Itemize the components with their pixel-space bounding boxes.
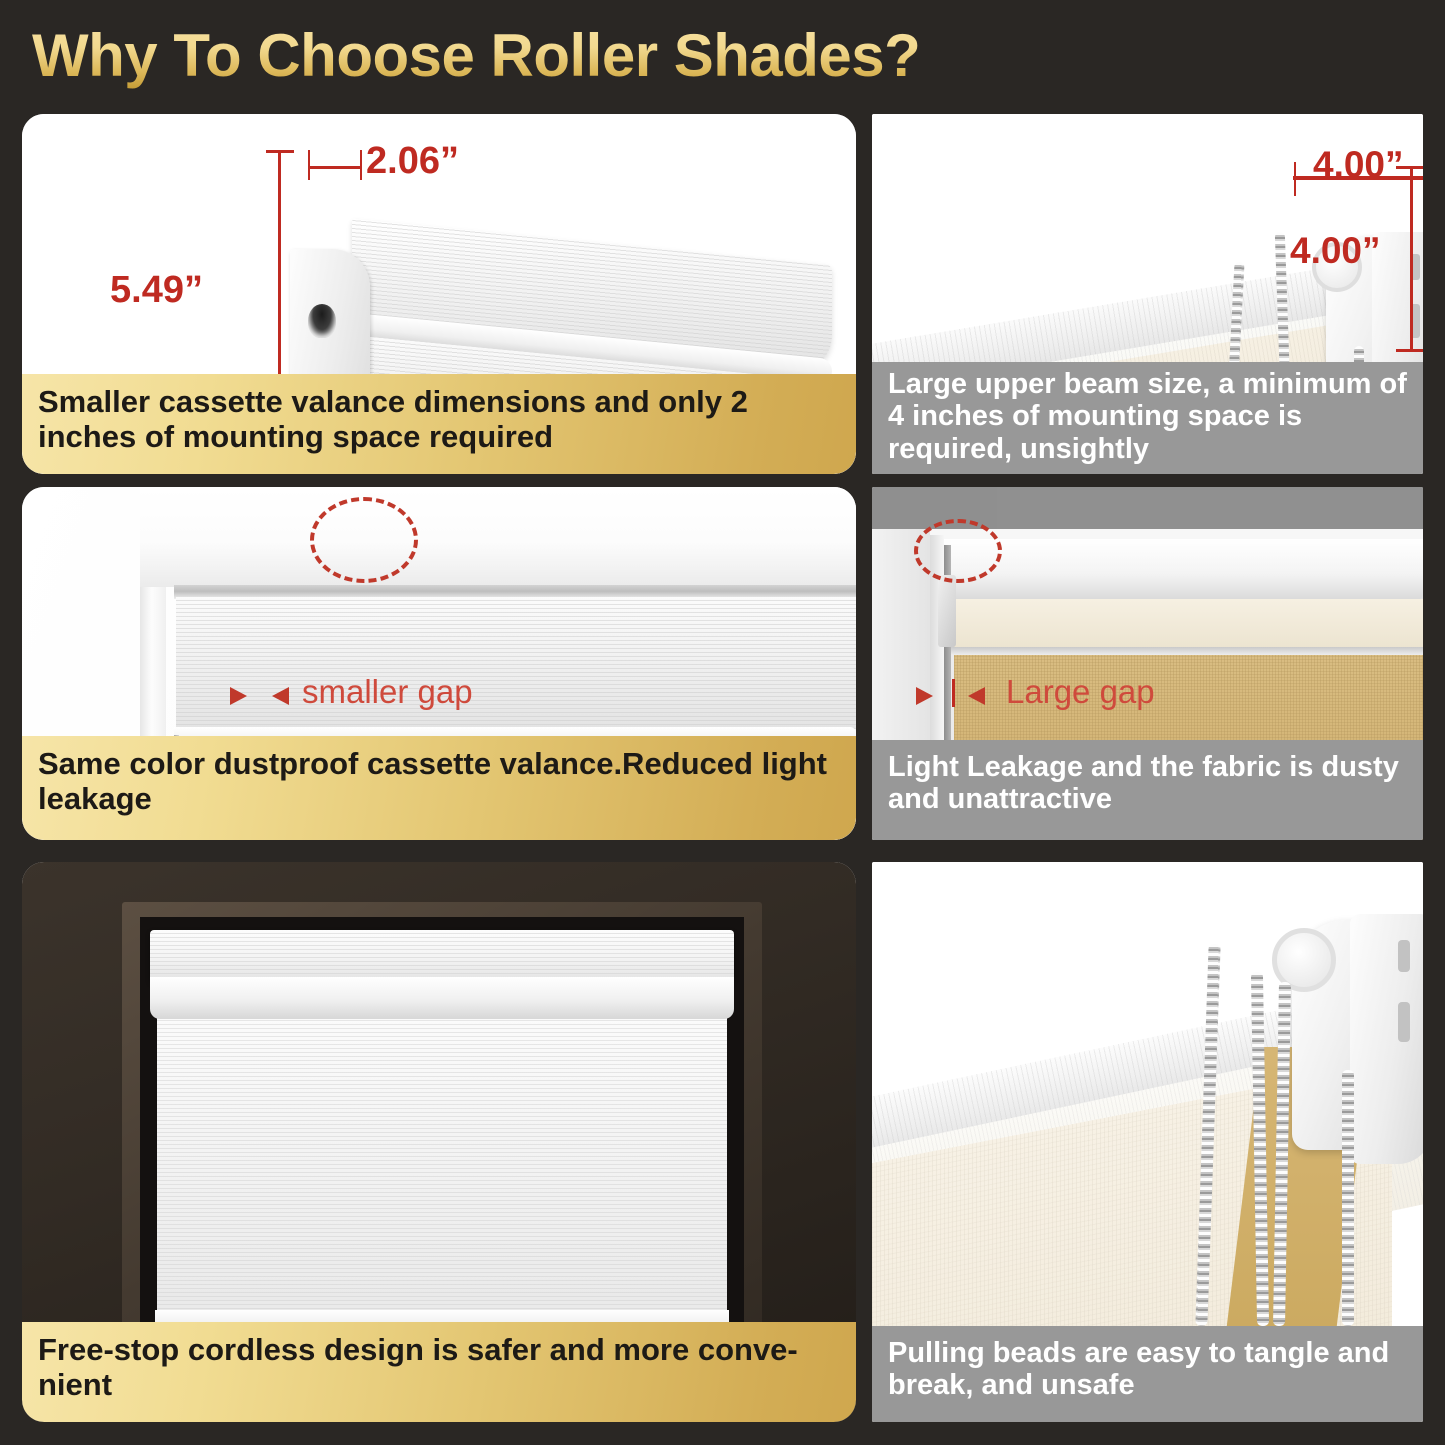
bracket-slot-lower: [1398, 1002, 1410, 1042]
beam-width-label: 4.00”: [1313, 144, 1404, 186]
panel-pro-cassette-dimensions: 2.06” 5.49” Smaller cassette valance dim…: [22, 114, 856, 474]
panel-con-pulling-beads: Pulling beads are easy to tangle and bre…: [872, 862, 1423, 1422]
panel-2-caption: Large upper beam size, a minimum of 4 in…: [872, 362, 1423, 474]
panel-5-caption: Free-stop cordless design is safer and m…: [22, 1322, 856, 1422]
beam-height-tick-bottom: [1396, 349, 1423, 352]
roller-shade-fabric: [157, 1017, 727, 1317]
panel-6-caption: Pulling beads are easy to tangle and bre…: [872, 1326, 1423, 1422]
beam-height-label: 4.00”: [1290, 230, 1381, 272]
highlight-ellipse: [914, 519, 1002, 583]
bead-chain-tail: [1342, 1070, 1354, 1326]
panel-pro-dustproof-valance: smaller gap Same color dustproof cassett…: [22, 487, 856, 840]
width-dimension-label: 2.06”: [366, 140, 459, 183]
gap-callout-label: smaller gap: [302, 673, 473, 711]
panel-4-caption: Light Leakage and the fabric is dusty an…: [872, 740, 1423, 840]
height-dim-tick-top: [266, 150, 294, 153]
highlight-ellipse: [310, 497, 418, 583]
width-dim-line: [308, 166, 362, 169]
gap-arrow-left: [230, 687, 247, 705]
upper-beam: [944, 539, 1423, 601]
panel-1-caption: Smaller cassette valance dimensions and …: [22, 374, 856, 474]
cassette-valance-lip: [150, 977, 734, 1019]
width-dim-tick-right: [360, 150, 362, 180]
gap-tick: [952, 679, 955, 707]
width-dim-tick-left: [308, 150, 310, 180]
fabric-seam: [944, 647, 1423, 655]
infographic-root: Why To Choose Roller Shades? 2.06” 5.49”: [0, 0, 1445, 1445]
beam-height-line: [1410, 166, 1413, 352]
cream-fabric-band: [950, 599, 1423, 649]
mounting-clip: [938, 575, 956, 647]
panel-3-caption: Same color dustproof cassette valance.Re…: [22, 736, 856, 840]
gap-callout-label: Large gap: [1006, 673, 1155, 711]
gap-arrow-right: [272, 687, 289, 705]
window-casing-top: [140, 487, 856, 587]
page-title: Why To Choose Roller Shades?: [32, 20, 1032, 92]
gap-arrow-right: [968, 687, 985, 705]
panel-con-large-beam: 4.00” 4.00” Large upper beam size, a min…: [872, 114, 1423, 474]
panel-pro-cordless-design: Free-stop cordless design is safer and m…: [22, 862, 856, 1422]
bracket-slot-upper: [1398, 940, 1410, 972]
wall-shadow-right: [997, 487, 1423, 532]
height-dimension-label: 5.49”: [110, 269, 203, 312]
cassette-valance: [150, 930, 734, 982]
panel-con-light-leakage: Large gap Light Leakage and the fabric i…: [872, 487, 1423, 840]
shade-upper-fabric: [176, 597, 856, 729]
gap-arrow-left: [916, 687, 933, 705]
mounting-bracket: [1350, 914, 1423, 1164]
